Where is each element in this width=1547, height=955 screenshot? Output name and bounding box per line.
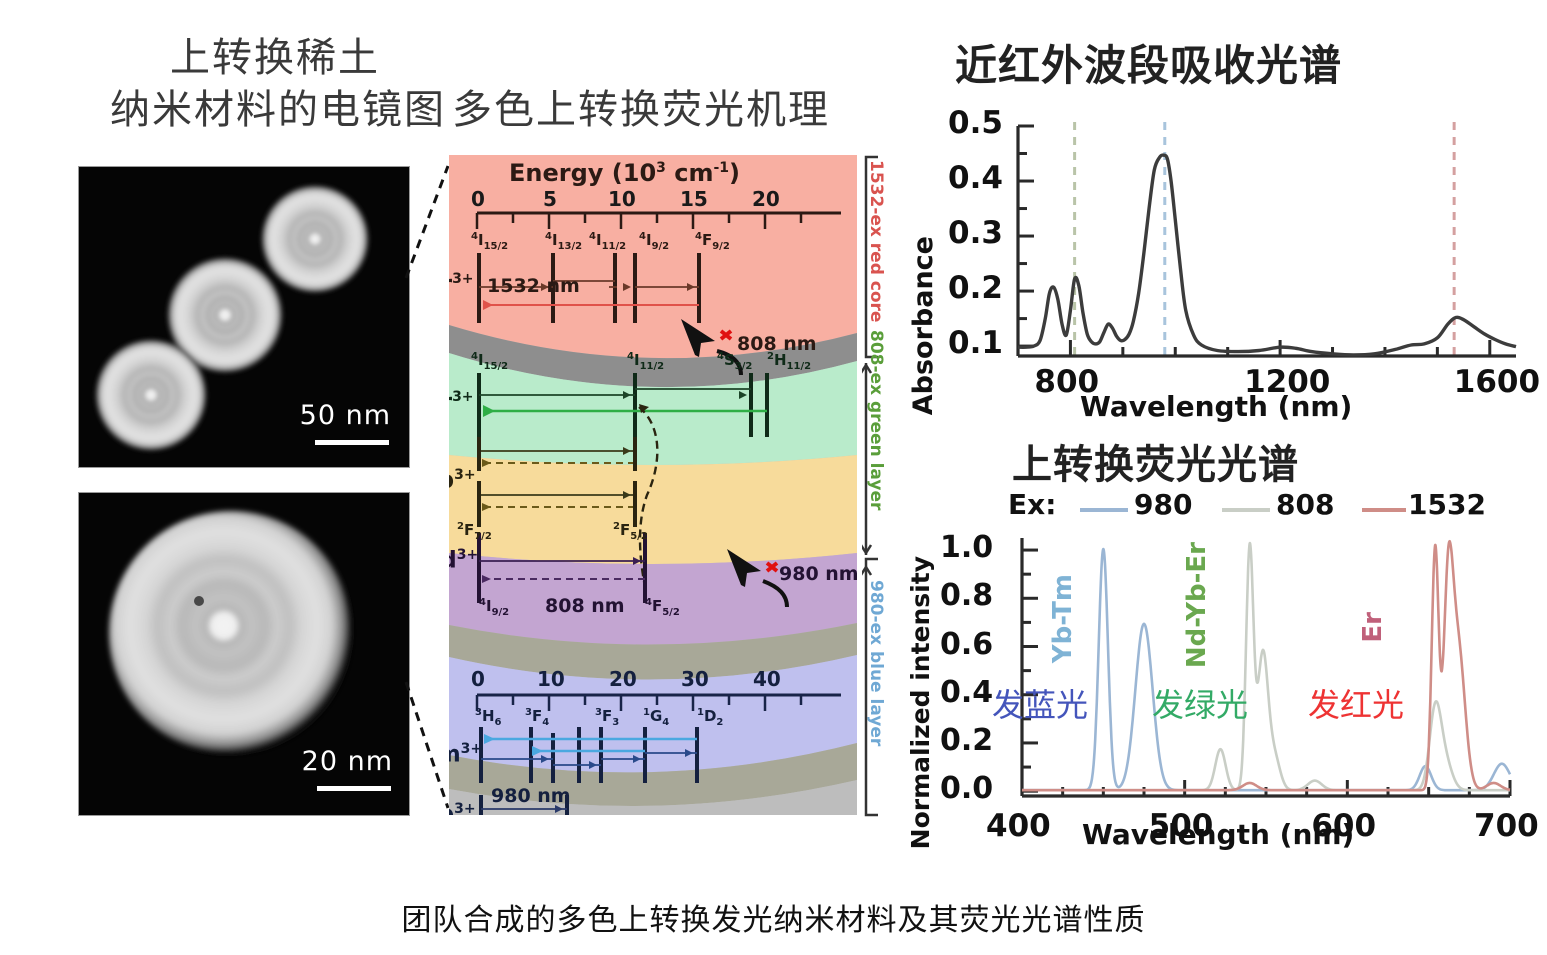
top-axis-tick-20: 20 — [752, 187, 780, 211]
pump-label-980: 980 nm — [779, 563, 857, 585]
bottom-axis-tick-10: 10 — [537, 667, 565, 691]
tick-label: 0.2 — [940, 723, 993, 758]
scale-bar-label-20nm: 20 nm — [302, 746, 393, 777]
level-nd-1: 4F5/2 — [645, 597, 680, 618]
emission-annotation-yb-tm: Yb-Tm — [1048, 574, 1078, 663]
wavelength-label-1532: 1532 nm — [487, 275, 580, 297]
level-tm-3: 1G4 — [643, 707, 669, 728]
mechanism-panel-title: 多色上转换荧光机理 — [452, 84, 830, 136]
wavelength-label-yb-980: 980 nm — [491, 785, 571, 807]
bottom-axis-tick-20: 20 — [609, 667, 637, 691]
layer-label-green-layer: 808-ex green layer — [866, 330, 886, 510]
tick-label: 0.5 — [948, 105, 1003, 141]
emission-annotation-er: Er — [1358, 612, 1388, 643]
ion-label-yb-green: Yb3+ — [449, 467, 476, 494]
tick-label: 400 — [986, 808, 1051, 844]
ion-label-tm: Tm3+ — [449, 741, 482, 768]
ion-label-er-green: Er3+ — [449, 389, 474, 416]
emission-chart: Ex: 980 808 1532 Normalized intensity Wa… — [930, 490, 1530, 850]
emission-annotation-nd-yb-er: Nd-Yb-Er — [1182, 542, 1212, 668]
emission-annotation-blue-cn: 发蓝光 — [992, 680, 1088, 726]
level-tm-0: 3H6 — [475, 707, 502, 728]
level-er-red-4: 4F9/2 — [695, 231, 730, 252]
energy-axis-title: Energy (103 cm-1) — [509, 159, 740, 187]
level-er-red-1: 4I13/2 — [545, 231, 582, 252]
tick-label: 600 — [1311, 808, 1376, 844]
ion-label-nd: Nd3+ — [449, 547, 478, 574]
emission-legend-swatch-808 — [1222, 508, 1270, 512]
level-er-red-2: 4I11/2 — [589, 231, 626, 252]
emission-legend-label-980: 980 — [1134, 488, 1192, 521]
tick-label: 500 — [1149, 808, 1214, 844]
level-er-green-1: 4I11/2 — [627, 351, 664, 372]
emission-legend-prefix: Ex: — [1008, 488, 1056, 521]
wavelength-label-nd-808: 808 nm — [545, 595, 625, 617]
tick-label: 0.4 — [940, 675, 993, 710]
tick-label: 700 — [1474, 808, 1539, 844]
emission-legend-swatch-1532 — [1362, 508, 1406, 512]
top-axis-tick-0: 0 — [471, 187, 485, 211]
layer-label-red-core: 1532-ex red core — [866, 160, 886, 322]
absorption-chart: Absorbance Wavelength (nm) 0.10.20.30.40… — [930, 118, 1530, 418]
figure-caption: 团队合成的多色上转换发光纳米材料及其荧光光谱性质 — [0, 895, 1547, 939]
level-er-green-3: 2H11/2 — [767, 351, 811, 372]
tick-label: 0.4 — [948, 160, 1003, 196]
tick-label: 0.2 — [948, 270, 1003, 306]
absorption-axes — [1018, 126, 1516, 356]
top-axis-tick-5: 5 — [543, 187, 557, 211]
level-er-green-0: 4I15/2 — [471, 351, 508, 372]
tem-image-overview: 50 nm — [78, 166, 410, 468]
tick-label: 0.6 — [940, 627, 993, 662]
absorption-plot-area — [930, 118, 1530, 418]
tem-image-single-particle: 20 nm — [78, 492, 410, 816]
bottom-axis-tick-30: 30 — [681, 667, 709, 691]
level-er-red-0: 4I15/2 — [471, 231, 508, 252]
tem-title-line2: 纳米材料的电镜图 — [110, 84, 440, 136]
scale-bar-line-20nm — [317, 786, 391, 791]
tick-label: 0.8 — [940, 578, 993, 613]
level-yb-0: 2F7/2 — [457, 521, 492, 542]
level-yb-1: 2F5/2 — [613, 521, 648, 542]
tick-label: 0.1 — [948, 325, 1003, 361]
tick-label: 1200 — [1244, 364, 1330, 400]
level-tm-4: 1D2 — [697, 707, 723, 728]
absorption-ylabel: Absorbance — [908, 236, 939, 415]
top-axis-tick-10: 10 — [608, 187, 636, 211]
ion-label-er-red: Er3+ — [449, 271, 474, 298]
scale-bar-label-50nm: 50 nm — [300, 400, 391, 431]
tem-panel-title: 上转换稀土 纳米材料的电镜图 — [110, 32, 440, 136]
emission-chart-title: 上转换荧光光谱 — [1012, 440, 1299, 490]
bottom-axis-tick-0: 0 — [471, 667, 485, 691]
emission-annotation-red-cn: 发红光 — [1308, 680, 1404, 726]
tick-label: 1600 — [1454, 364, 1540, 400]
layer-label-blue-layer: 980-ex blue layer — [866, 580, 886, 746]
emission-ylabel: Normalized intensity — [906, 556, 935, 849]
absorption-curve — [1018, 155, 1516, 355]
figure-root: 上转换稀土 纳米材料的电镜图 多色上转换荧光机理 近红外波段吸收光谱 上转换荧光… — [0, 0, 1547, 955]
absorption-marker-lines — [1075, 122, 1455, 356]
level-nd-0: 4I9/2 — [479, 597, 509, 618]
absorption-chart-title: 近红外波段吸收光谱 — [955, 40, 1342, 92]
scale-bar-line-50nm — [315, 440, 389, 445]
level-er-green-2: 4S3/2 — [717, 351, 752, 372]
tick-label: 800 — [1034, 364, 1099, 400]
emission-legend-swatch-980 — [1080, 508, 1128, 512]
band-yellow — [449, 455, 857, 564]
top-axis-tick-15: 15 — [680, 187, 708, 211]
tick-label: 0.0 — [940, 771, 993, 806]
level-tm-1: 3F4 — [525, 707, 549, 728]
level-er-red-3: 4I9/2 — [639, 231, 669, 252]
emission-legend-label-1532: 1532 — [1408, 488, 1486, 521]
tem-title-line1: 上转换稀土 — [110, 32, 440, 84]
energy-level-mechanism-diagram: Energy (103 cm-1) 0 5 10 15 20 4I15/2 4I… — [449, 155, 857, 815]
emission-legend-label-808: 808 — [1276, 488, 1334, 521]
level-tm-2: 3F3 — [595, 707, 619, 728]
ion-label-yb-blue: Yb3+ — [449, 801, 476, 815]
tick-label: 1.0 — [940, 530, 993, 565]
emission-annotation-green-cn: 发绿光 — [1152, 680, 1248, 726]
tick-label: 0.3 — [948, 215, 1003, 251]
bottom-axis-tick-40: 40 — [753, 667, 781, 691]
